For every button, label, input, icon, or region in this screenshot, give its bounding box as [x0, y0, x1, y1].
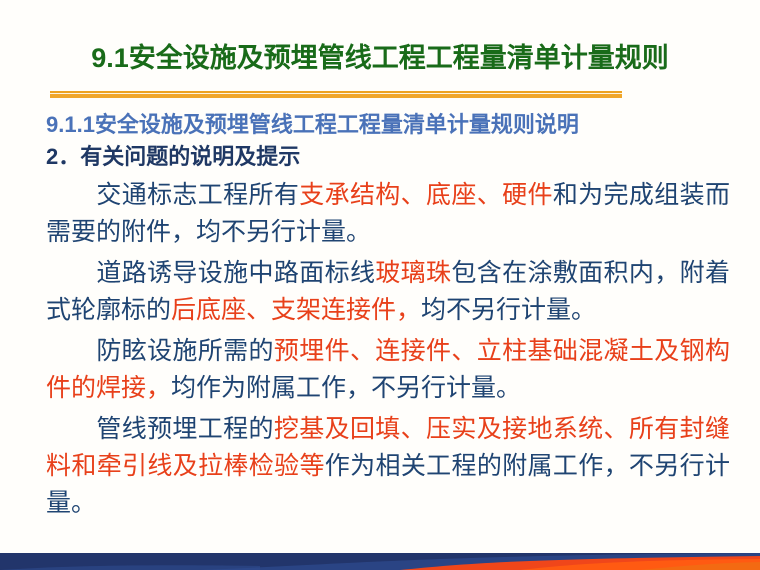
body-content: 9.1.1安全设施及预埋管线工程工程量清单计量规则说明 2．有关问题的说明及提示…: [46, 110, 730, 522]
body-text-run: 均作为附属工作，不另行计量。: [171, 375, 521, 402]
page-title: 9.1安全设施及预埋管线工程工程量清单计量规则: [91, 36, 669, 75]
body-text-run: 均不另行计量。: [421, 297, 596, 324]
body-paragraph: 交通标志工程所有支承结构、底座、硬件和为完成组装而需要的附件，均不另行计量。: [46, 177, 730, 251]
highlighted-term: 支承结构、底座、硬件: [299, 182, 553, 209]
slide-canvas: 9.1安全设施及预埋管线工程工程量清单计量规则 9.1.1安全设施及预埋管线工程…: [0, 0, 760, 570]
divider-line-bottom: [50, 94, 622, 98]
section-item-heading: 2．有关问题的说明及提示: [46, 140, 730, 173]
body-text-run: 交通标志工程所有: [96, 182, 299, 209]
body-paragraph: 防眩设施所需的预埋件、连接件、立柱基础混凝土及钢构件的焊接，均作为附属工作，不另…: [46, 333, 730, 407]
footer-swoosh-graphic: [0, 553, 760, 570]
paragraph-list: 交通标志工程所有支承结构、底座、硬件和为完成组装而需要的附件，均不另行计量。道路…: [46, 177, 730, 522]
title-row: 9.1安全设施及预埋管线工程工程量清单计量规则: [0, 36, 760, 75]
title-divider: [50, 91, 622, 98]
body-text-run: 防眩设施所需的: [96, 338, 274, 365]
highlighted-term: 玻璃珠: [375, 260, 451, 287]
footer-decoration-band: [0, 553, 760, 570]
body-text-run: 道路诱导设施中路面标线: [96, 260, 375, 287]
section-subheading: 9.1.1安全设施及预埋管线工程工程量清单计量规则说明: [46, 110, 730, 140]
highlighted-term: 后底座、支架连接件，: [171, 297, 421, 324]
body-paragraph: 管线预埋工程的挖基及回填、压实及接地系统、所有封缝料和牵引线及拉棒检验等作为相关…: [46, 411, 730, 522]
body-text-run: 管线预埋工程的: [96, 416, 274, 443]
body-paragraph: 道路诱导设施中路面标线玻璃珠包含在涂敷面积内，附着式轮廓标的后底座、支架连接件，…: [46, 255, 730, 329]
